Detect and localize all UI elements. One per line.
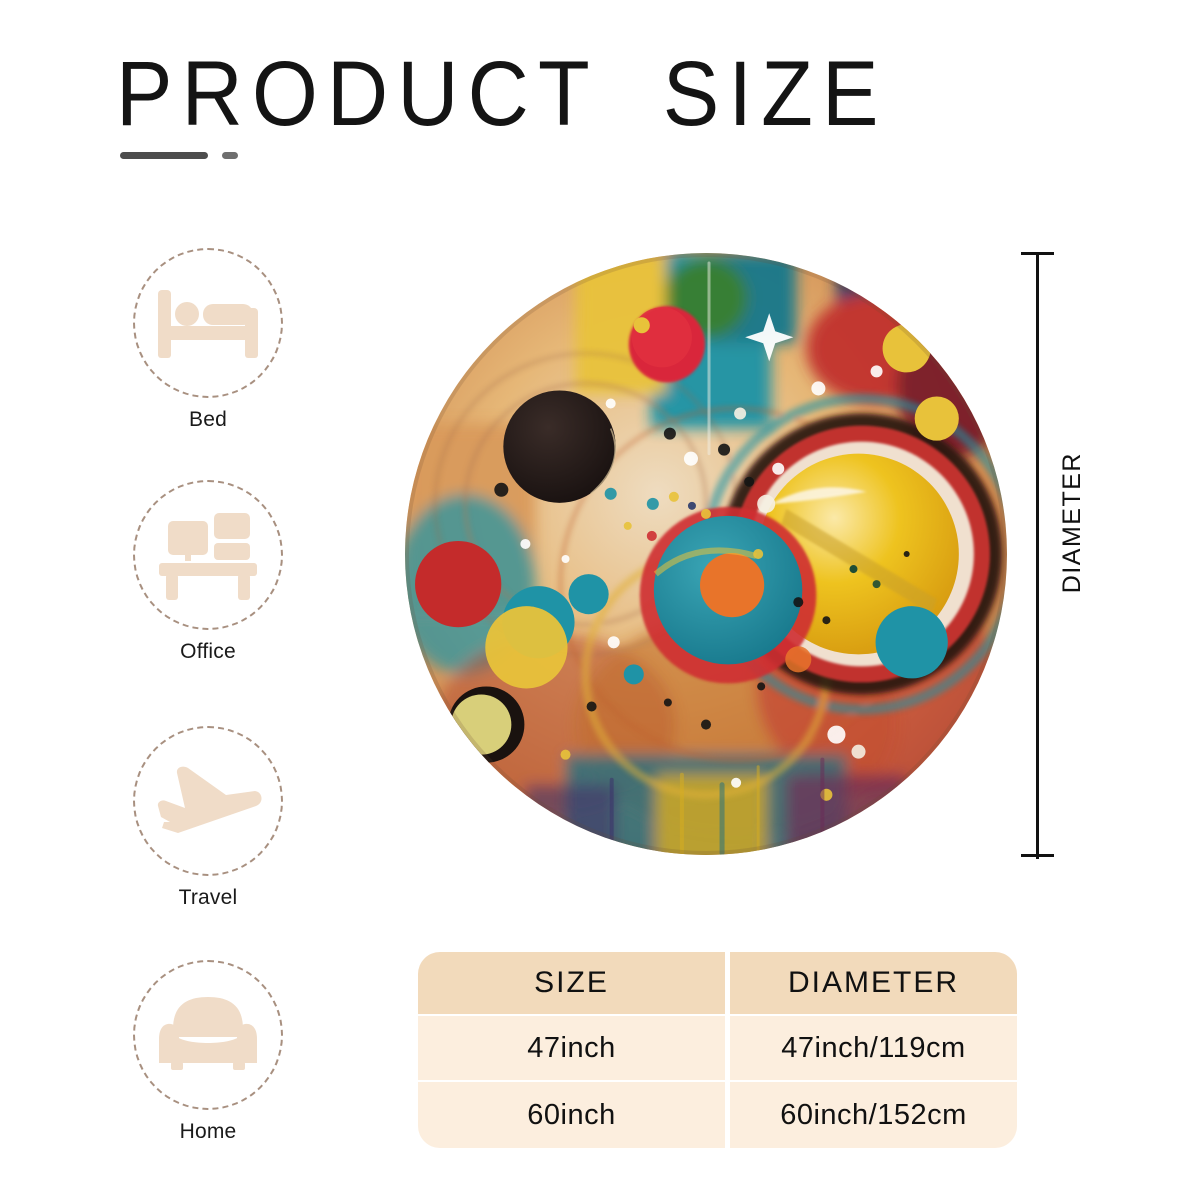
usecase-label-home: Home [118, 1120, 298, 1144]
usecase-label-office: Office [118, 640, 298, 664]
usecase-rail: Bed Office Travel [118, 248, 298, 1158]
diameter-dimension-line [1020, 250, 1054, 862]
table-cell-diameter-row1: 47inch/119cm [730, 1016, 1017, 1080]
bed-icon [156, 286, 260, 360]
table-header-diameter: DIAMETER [730, 952, 1017, 1014]
airplane-icon [152, 762, 264, 840]
office-desk-icon [158, 509, 258, 601]
usecase-circle-office [133, 480, 283, 630]
table-cell-size-row1: 47inch [418, 1016, 725, 1080]
usecase-item-travel: Travel [118, 726, 298, 931]
sofa-icon [153, 993, 263, 1077]
abstract-circular-art-print [405, 253, 1007, 855]
usecase-circle-travel [133, 726, 283, 876]
table-header-size: SIZE [418, 952, 725, 1014]
usecase-circle-home [133, 960, 283, 1110]
page-title: PRODUCT SIZE [116, 46, 888, 142]
diameter-label: DIAMETER [1058, 452, 1087, 593]
underline-dash-long [120, 152, 208, 159]
table-cell-size-row2: 60inch [418, 1082, 725, 1148]
product-artwork [405, 253, 1007, 855]
dimension-axis [1036, 253, 1039, 859]
header: PRODUCT SIZE [0, 0, 1200, 190]
title-underline-decoration [120, 152, 250, 160]
usecase-item-home: Home [118, 960, 298, 1165]
usecase-item-bed: Bed [118, 248, 298, 453]
size-table: SIZE DIAMETER 47inch 47inch/119cm 60inch… [418, 952, 1012, 1144]
table-cell-diameter-row2: 60inch/152cm [730, 1082, 1017, 1148]
usecase-circle-bed [133, 248, 283, 398]
usecase-label-travel: Travel [118, 886, 298, 910]
underline-dash-short [222, 152, 238, 159]
usecase-label-bed: Bed [118, 408, 298, 432]
dimension-cap-bottom [1021, 854, 1054, 857]
usecase-item-office: Office [118, 480, 298, 685]
